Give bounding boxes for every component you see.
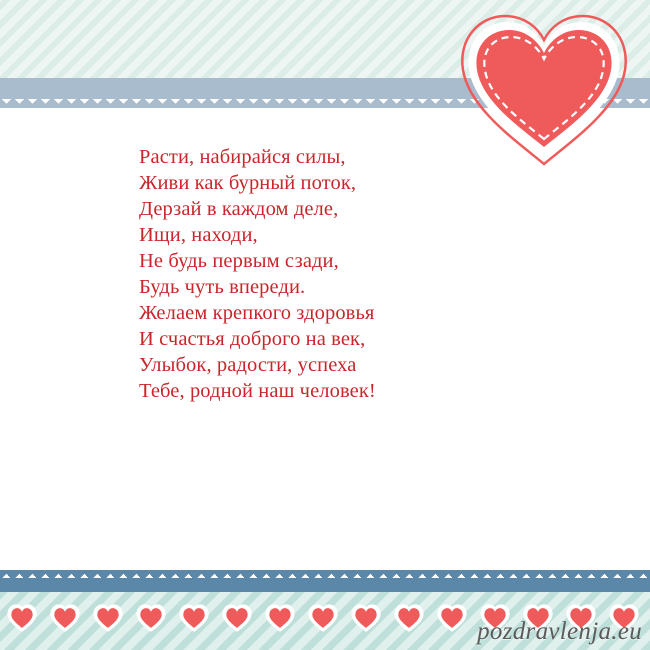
- poem-line: Будь чуть впереди.: [139, 274, 559, 300]
- heart-icon: [308, 604, 338, 632]
- heart-icon: [179, 604, 209, 632]
- heart-icon: [265, 604, 295, 632]
- greeting-card: Расти, набирайся силы, Живи как бурный п…: [0, 0, 650, 650]
- poem-line: Улыбок, радости, успеха: [139, 352, 559, 378]
- heart-icon: [437, 604, 467, 632]
- poem-line: Дерзай в каждом деле,: [139, 196, 559, 222]
- bottom-slate-band: [0, 578, 650, 592]
- poem-line: Не будь первым сзади,: [139, 248, 559, 274]
- heart-icon: [93, 604, 123, 632]
- heart-icon: [222, 604, 252, 632]
- heart-icon: [351, 604, 381, 632]
- heart-icon: [50, 604, 80, 632]
- watermark: pozdravlenja.eu: [477, 618, 642, 646]
- bottom-zigzag-edge: [0, 570, 650, 578]
- poem-line: Живи как бурный поток,: [139, 170, 559, 196]
- heart-icon: [394, 604, 424, 632]
- poem-line: Расти, набирайся силы,: [139, 144, 559, 170]
- heart-icon: [136, 604, 166, 632]
- poem-line: Тебе, родной наш человек!: [139, 378, 559, 404]
- poem-line: Желаем крепкого здоровья: [139, 300, 559, 326]
- poem-line: И счастья доброго на век,: [139, 326, 559, 352]
- heart-icon: [7, 604, 37, 632]
- poem-line: Ищи, находи,: [139, 222, 559, 248]
- poem-text: Расти, набирайся силы, Живи как бурный п…: [139, 144, 559, 404]
